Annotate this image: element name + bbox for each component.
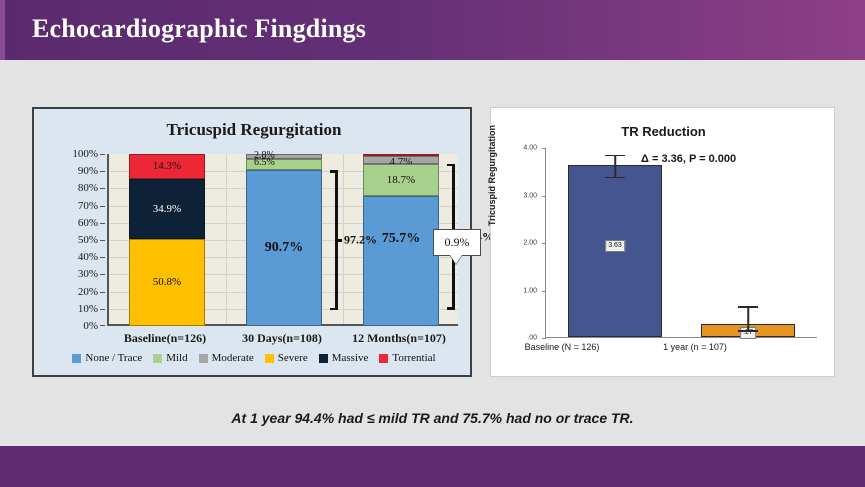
legend-left: None / Trace Mild Moderate Severe Massiv… bbox=[42, 352, 466, 364]
legend-item-severe: Severe bbox=[265, 352, 308, 364]
slide-title-bar: Echocardiographic Fingdings bbox=[0, 0, 865, 60]
y-tick-50: 50% bbox=[78, 234, 98, 246]
bar-baseline: 14.3% 34.9% 50.8% bbox=[129, 154, 205, 326]
r-tick-2: 2.00 bbox=[523, 240, 537, 247]
callout-torrential-12m: 0.9% bbox=[433, 229, 481, 256]
label-mild-30d: 6.5% bbox=[254, 157, 275, 168]
y-tick-70: 70% bbox=[78, 200, 98, 212]
r-tick-1: 1.00 bbox=[523, 287, 537, 294]
segment-torrential-baseline: 14.3% bbox=[129, 154, 205, 179]
legend-swatch-icon-severe bbox=[265, 354, 274, 363]
legend-item-torrential: Torrential bbox=[379, 352, 435, 364]
x-label-30-days: 30 Days(n=108) bbox=[222, 331, 342, 346]
chart-title-left: Tricuspid Regurgitation bbox=[34, 120, 474, 140]
segment-none-trace-30d: 90.7% bbox=[246, 170, 322, 326]
rbar-value-baseline: 3.63 bbox=[605, 240, 625, 252]
y-axis-left: 0% 10% 20% 30% 40% 50% 60% 70% 80% 90% 1… bbox=[34, 154, 105, 326]
y-tick-20: 20% bbox=[78, 286, 98, 298]
y-tick-80: 80% bbox=[78, 182, 98, 194]
legend-swatch-icon-none-trace bbox=[72, 354, 81, 363]
y-tick-10: 10% bbox=[78, 303, 98, 315]
legend-swatch-icon-torrential bbox=[379, 354, 388, 363]
y-tick-40: 40% bbox=[78, 251, 98, 263]
rbar-baseline: 3.63 bbox=[568, 165, 662, 337]
r-tick-3: 3.00 bbox=[523, 192, 537, 199]
slide-footer: 2023 PCR london valves TR: tricuspid reg… bbox=[0, 446, 865, 487]
legend-item-mild: Mild bbox=[153, 352, 187, 364]
segment-moderate-12m: 4.7% bbox=[363, 156, 439, 164]
r-tick-4: 4.00 bbox=[523, 145, 537, 152]
slide-root: Echocardiographic Fingdings Tricuspid Re… bbox=[0, 0, 865, 487]
plot-area-right: .00 1.00 2.00 3.00 4.00 3.63 .27 bbox=[545, 148, 817, 338]
segment-mild-12m: 18.7% bbox=[363, 164, 439, 196]
tr-reduction-chart: TR Reduction Δ = 3.36, P = 0.000 Tricusp… bbox=[490, 107, 835, 377]
x-label-baseline: Baseline(n=126) bbox=[105, 331, 225, 346]
page-title: Echocardiographic Fingdings bbox=[32, 14, 366, 44]
segment-massive-baseline: 34.9% bbox=[129, 179, 205, 239]
legend-swatch-icon-moderate bbox=[199, 354, 208, 363]
legend-swatch-icon-massive bbox=[319, 354, 328, 363]
legend-swatch-icon-mild bbox=[153, 354, 162, 363]
legend-item-none-trace: None / Trace bbox=[72, 352, 142, 364]
y-tick-100: 100% bbox=[72, 148, 98, 160]
plot-area-left: 14.3% 34.9% 50.8% 90.7% 2.8% 6.5% bbox=[107, 154, 458, 326]
legend-item-moderate: Moderate bbox=[199, 352, 254, 364]
segment-none-trace-12m: 75.7% bbox=[363, 196, 439, 326]
y-tick-0: 0% bbox=[83, 320, 98, 332]
bar-30-days: 90.7% 2.8% 6.5% bbox=[246, 154, 322, 326]
rx-label-baseline: Baseline (N = 126) bbox=[492, 342, 632, 352]
x-label-12-months: 12 Months(n=107) bbox=[339, 331, 459, 346]
tricuspid-regurgitation-chart: Tricuspid Regurgitation 0% 10% 20% 30% 4… bbox=[32, 107, 472, 377]
slide-caption: At 1 year 94.4% had ≤ mild TR and 75.7% … bbox=[0, 410, 865, 426]
chart-title-right: TR Reduction bbox=[491, 124, 836, 139]
y-tick-60: 60% bbox=[78, 217, 98, 229]
rbar-1-year: .27 bbox=[701, 324, 795, 337]
y-tick-90: 90% bbox=[78, 165, 98, 177]
rx-label-1-year: 1 year (n = 107) bbox=[625, 342, 765, 352]
y-tick-30: 30% bbox=[78, 268, 98, 280]
segment-severe-baseline: 50.8% bbox=[129, 239, 205, 326]
y-axis-label-right: Tricuspid Regurgitation bbox=[487, 125, 497, 226]
legend-item-massive: Massive bbox=[319, 352, 369, 364]
r-tick-0: .00 bbox=[527, 335, 537, 342]
